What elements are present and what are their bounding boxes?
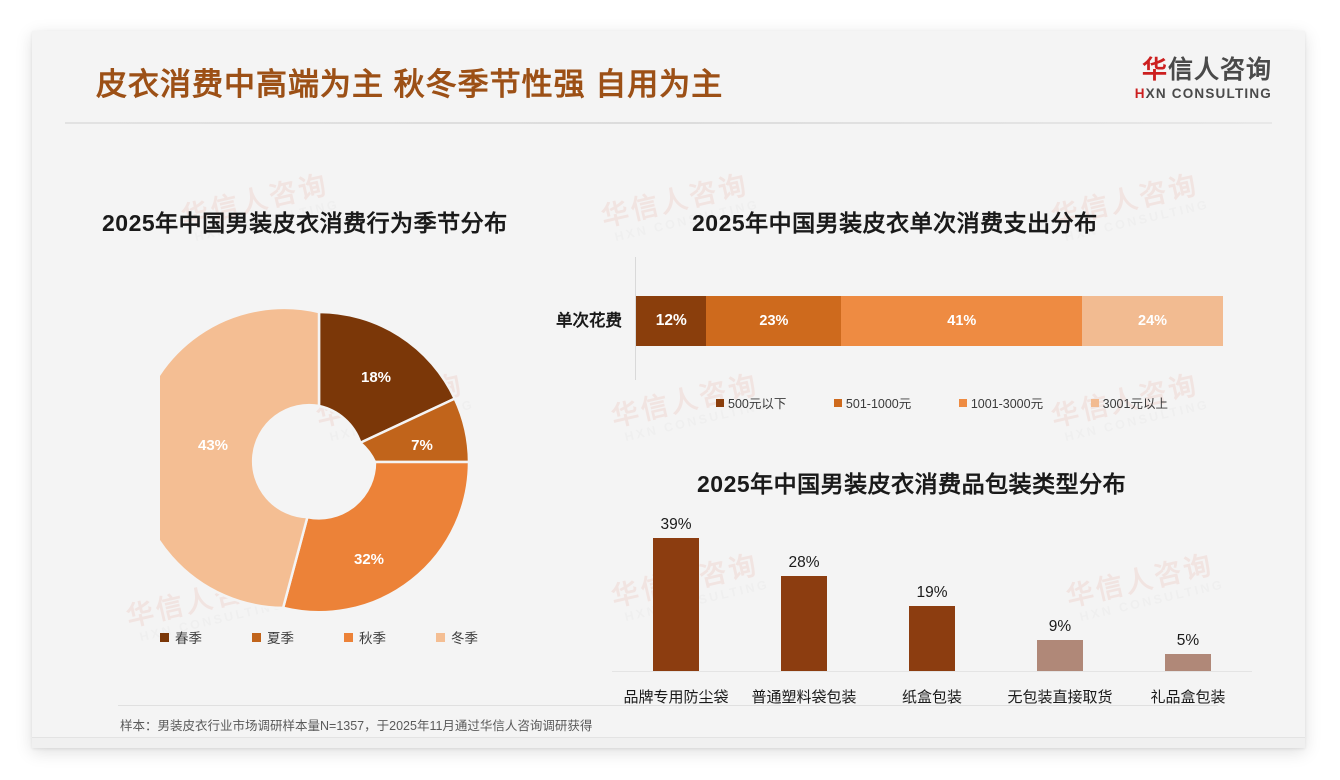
spend-category-label: 单次花费 — [530, 307, 622, 331]
legend-swatch-icon — [834, 399, 842, 407]
season-chart-title: 2025年中国男装皮衣消费行为季节分布 — [102, 204, 508, 238]
footer-divider — [32, 737, 1305, 738]
spend-chart-title: 2025年中国男装皮衣单次消费支出分布 — [692, 204, 1098, 238]
spend-stacked-bar: 12% 23% 41% 24% — [636, 296, 1223, 346]
spend-segment-501-1000[interactable]: 23% — [706, 296, 841, 346]
column-value-plasticbag: 28% — [788, 554, 819, 572]
header-divider — [65, 122, 1272, 124]
brand-logo-chinese: 华信人咨询 — [1135, 57, 1272, 83]
legend-item-501-1000[interactable]: 501-1000元 — [834, 393, 911, 412]
slide-canvas: 华信人咨询 HXN CONSULTING 华信人咨询 HXN CONSULTIN… — [32, 31, 1305, 748]
column-slot-nopackage: 9% — [996, 521, 1124, 671]
legend-swatch-icon — [344, 633, 353, 642]
spend-segment-under-500[interactable]: 12% — [636, 296, 706, 346]
column-slot-dustbag: 39% — [612, 521, 740, 671]
brand-logo-h-char: H — [1135, 86, 1146, 101]
legend-swatch-icon — [252, 633, 261, 642]
legend-swatch-icon — [160, 633, 169, 642]
legend-label-summer: 夏季 — [267, 627, 294, 647]
brand-logo-english: HXN CONSULTING — [1135, 86, 1272, 101]
spend-segment-over-3001[interactable]: 24% — [1082, 296, 1223, 346]
legend-label-autumn: 秋季 — [359, 627, 386, 647]
legend-item-winter[interactable]: 冬季 — [436, 627, 478, 647]
donut-value-summer: 7% — [411, 437, 433, 454]
legend-item-under-500[interactable]: 500元以下 — [716, 393, 786, 412]
slide-footer — [32, 738, 1305, 748]
column-bar-dustbag[interactable] — [653, 538, 699, 671]
season-donut-chart: 18% 7% 32% 43% — [160, 303, 478, 621]
donut-slice-autumn[interactable] — [283, 462, 469, 612]
legend-swatch-icon — [716, 399, 724, 407]
legend-item-spring[interactable]: 春季 — [160, 627, 202, 647]
legend-swatch-icon — [1091, 399, 1099, 407]
legend-item-autumn[interactable]: 秋季 — [344, 627, 386, 647]
legend-label-1001-3000: 1001-3000元 — [971, 393, 1043, 412]
brand-logo-hua-char: 华 — [1142, 56, 1168, 84]
brand-logo-chinese-rest: 信人咨询 — [1168, 56, 1272, 84]
column-value-giftbox: 5% — [1177, 632, 1199, 650]
column-label-dustbag: 品牌专用防尘袋 — [612, 686, 740, 707]
column-label-paperbox: 纸盒包装 — [868, 686, 996, 707]
season-chart-legend: 春季 夏季 秋季 冬季 — [160, 627, 478, 647]
brand-logo-english-rest: XN CONSULTING — [1146, 86, 1272, 101]
donut-value-spring: 18% — [361, 369, 391, 386]
legend-swatch-icon — [959, 399, 967, 407]
column-label-giftbox: 礼品盒包装 — [1124, 686, 1252, 707]
column-slot-paperbox: 19% — [868, 521, 996, 671]
column-bar-giftbox[interactable] — [1165, 654, 1211, 671]
sample-note: 样本：男装皮衣行业市场调研样本量N=1357，于2025年11月通过华信人咨询调… — [120, 715, 592, 734]
season-donut-svg: 18% 7% 32% 43% — [160, 303, 478, 621]
legend-item-1001-3000[interactable]: 1001-3000元 — [959, 393, 1043, 412]
column-label-nopackage: 无包装直接取货 — [996, 686, 1124, 707]
donut-value-autumn: 32% — [354, 551, 384, 568]
donut-value-winter: 43% — [198, 437, 228, 454]
column-slot-plasticbag: 28% — [740, 521, 868, 671]
column-label-plasticbag: 普通塑料袋包装 — [740, 686, 868, 707]
package-chart-baseline — [612, 671, 1252, 672]
package-column-chart: 39% 28% 19% 9% 5% — [612, 521, 1252, 671]
legend-label-winter: 冬季 — [451, 627, 478, 647]
column-bar-nopackage[interactable] — [1037, 640, 1083, 671]
package-chart-title: 2025年中国男装皮衣消费品包装类型分布 — [697, 465, 1126, 499]
column-value-dustbag: 39% — [660, 516, 691, 534]
donut-slice-winter[interactable] — [160, 308, 319, 608]
legend-swatch-icon — [436, 633, 445, 642]
spend-chart-legend: 500元以下 501-1000元 1001-3000元 3001元以上 — [716, 393, 1168, 412]
page-title: 皮衣消费中高端为主 秋冬季节性强 自用为主 — [96, 59, 723, 104]
legend-label-501-1000: 501-1000元 — [846, 393, 911, 412]
slide-header: 皮衣消费中高端为主 秋冬季节性强 自用为主 华信人咨询 HXN CONSULTI… — [32, 31, 1305, 122]
brand-logo: 华信人咨询 HXN CONSULTING — [1135, 57, 1272, 101]
legend-label-under-500: 500元以下 — [728, 393, 786, 412]
legend-item-over-3001[interactable]: 3001元以上 — [1091, 393, 1168, 412]
column-value-paperbox: 19% — [916, 584, 947, 602]
column-value-nopackage: 9% — [1049, 618, 1071, 636]
legend-label-spring: 春季 — [175, 627, 202, 647]
legend-label-over-3001: 3001元以上 — [1103, 393, 1168, 412]
column-slot-giftbox: 5% — [1124, 521, 1252, 671]
column-bar-paperbox[interactable] — [909, 606, 955, 671]
legend-item-summer[interactable]: 夏季 — [252, 627, 294, 647]
spend-segment-1001-3000[interactable]: 41% — [841, 296, 1082, 346]
column-bar-plasticbag[interactable] — [781, 576, 827, 671]
